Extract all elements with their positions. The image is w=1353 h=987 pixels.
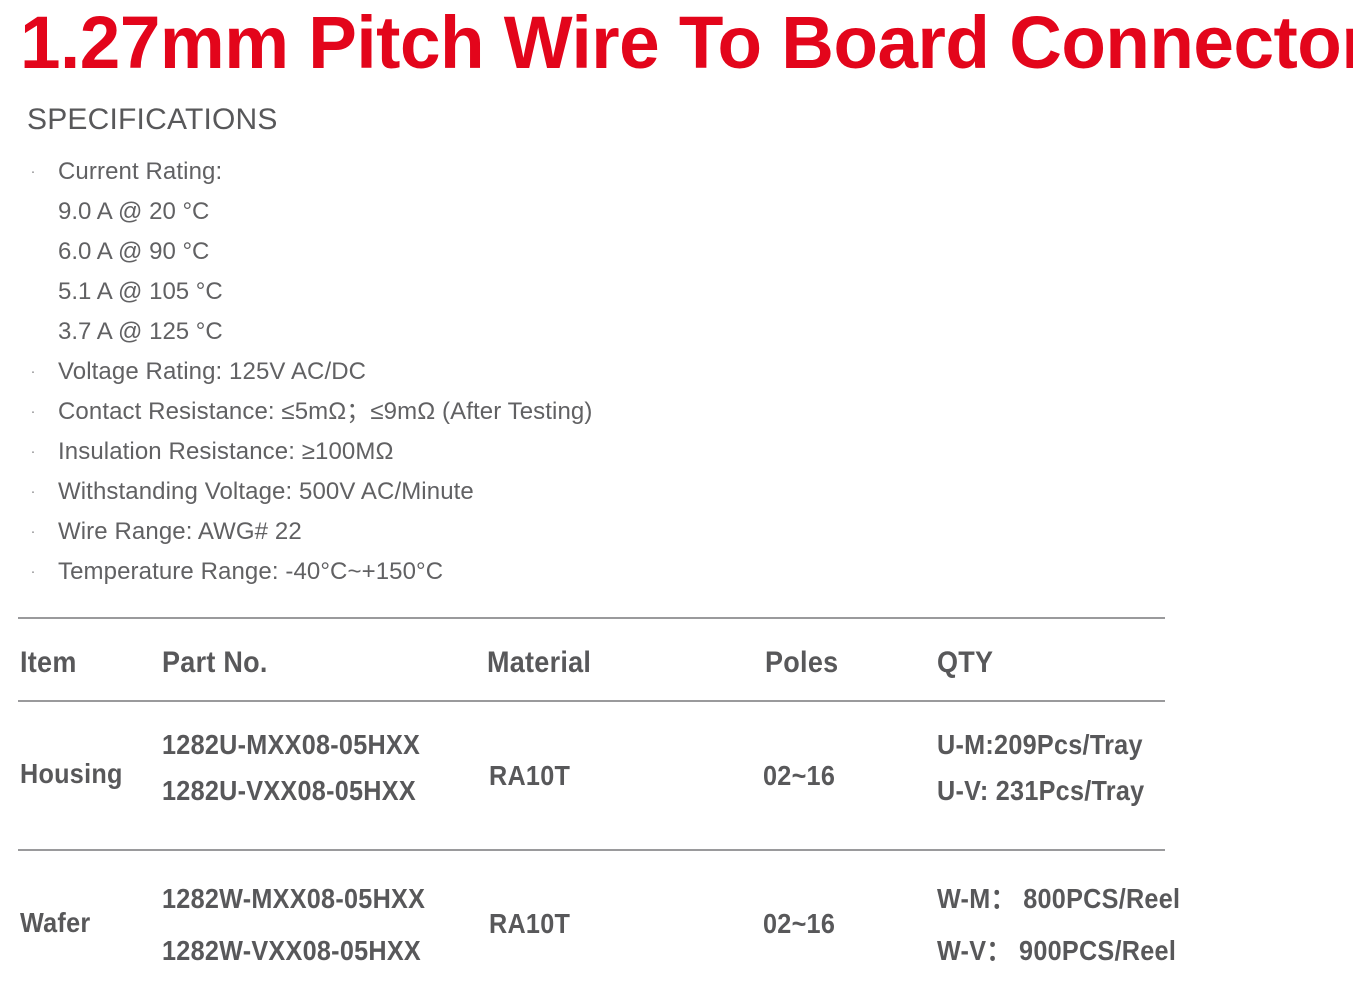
- cell-qty-line-2: U-V: 231Pcs/Tray: [937, 775, 1144, 807]
- cell-qty-line-2: W-V： 900PCS/Reel: [937, 935, 1180, 967]
- spec-subline: 5.1 A @ 105 °C: [0, 272, 900, 312]
- spec-item-label: Wire Range: AWG# 22: [58, 512, 302, 552]
- table-header-part-no: Part No.: [162, 646, 268, 680]
- spec-item-withstanding-voltage: · Withstanding Voltage: 500V AC/Minute: [0, 472, 900, 512]
- spec-item-voltage-rating: · Voltage Rating: 125V AC/DC: [0, 352, 900, 392]
- cell-part-no-line-2: 1282W-VXX08-05HXX: [162, 935, 425, 967]
- spec-item-label: Withstanding Voltage: 500V AC/Minute: [58, 472, 474, 512]
- specifications-heading: SPECIFICATIONS: [27, 103, 278, 137]
- table-header-poles: Poles: [765, 646, 838, 680]
- bullet-icon: ·: [27, 512, 39, 552]
- cell-part-no-line-1: 1282W-MXX08-05HXX: [162, 883, 425, 915]
- spec-item-contact-resistance: · Contact Resistance: ≤5mΩ；≤9mΩ (After T…: [0, 392, 900, 432]
- cell-poles: 02~16: [763, 908, 835, 940]
- spec-subline: 3.7 A @ 125 °C: [0, 312, 900, 352]
- table-header-item: Item: [20, 646, 77, 680]
- bullet-icon: ·: [27, 392, 39, 432]
- bullet-icon: ·: [27, 472, 39, 512]
- table-rule-header: [18, 700, 1165, 702]
- spec-item-temperature-range: · Temperature Range: -40°C~+150°C: [0, 552, 900, 592]
- cell-part-no-line-1: 1282U-MXX08-05HXX: [162, 729, 420, 761]
- spec-subline: 9.0 A @ 20 °C: [0, 192, 900, 232]
- cell-qty: W-M： 800PCS/Reel W-V： 900PCS/Reel: [937, 883, 1180, 967]
- specifications-list: · Current Rating: 9.0 A @ 20 °C 6.0 A @ …: [0, 152, 900, 592]
- table-row: Housing: [20, 758, 123, 790]
- spec-subline-text: 3.7 A @ 125 °C: [58, 312, 223, 352]
- datasheet-page: 1.27mm Pitch Wire To Board Connectors SP…: [0, 0, 1353, 987]
- cell-poles: 02~16: [763, 760, 835, 792]
- cell-material: RA10T: [489, 760, 570, 792]
- bullet-icon: ·: [27, 352, 39, 392]
- spec-item-label: Temperature Range: -40°C~+150°C: [58, 552, 443, 592]
- spec-subline: 6.0 A @ 90 °C: [0, 232, 900, 272]
- spec-item-label: Current Rating:: [58, 152, 222, 192]
- bullet-icon: ·: [27, 432, 39, 472]
- cell-part-no: 1282W-MXX08-05HXX 1282W-VXX08-05HXX: [162, 883, 425, 967]
- bullet-icon: ·: [27, 152, 39, 192]
- spec-subline-text: 9.0 A @ 20 °C: [58, 192, 209, 232]
- cell-qty: U-M:209Pcs/Tray U-V: 231Pcs/Tray: [937, 729, 1144, 807]
- table-rule-top: [18, 617, 1165, 619]
- spec-item-label: Insulation Resistance: ≥100MΩ: [58, 432, 394, 472]
- bullet-icon: ·: [27, 552, 39, 592]
- spec-item-current-rating: · Current Rating:: [0, 152, 900, 192]
- cell-qty-line-1: U-M:209Pcs/Tray: [937, 729, 1144, 761]
- cell-part-no: 1282U-MXX08-05HXX 1282U-VXX08-05HXX: [162, 729, 420, 807]
- spec-item-label: Contact Resistance: ≤5mΩ；≤9mΩ (After Tes…: [58, 392, 592, 432]
- cell-part-no-line-2: 1282U-VXX08-05HXX: [162, 775, 420, 807]
- spec-subline-text: 5.1 A @ 105 °C: [58, 272, 223, 312]
- cell-material: RA10T: [489, 908, 570, 940]
- spec-item-wire-range: · Wire Range: AWG# 22: [0, 512, 900, 552]
- table-row: Wafer: [20, 907, 90, 939]
- cell-item: Wafer: [20, 907, 90, 938]
- page-title: 1.27mm Pitch Wire To Board Connectors: [20, 2, 1330, 84]
- table-header-qty: QTY: [937, 646, 993, 680]
- table-rule-row-1: [18, 849, 1165, 851]
- cell-item: Housing: [20, 758, 123, 789]
- table-header-material: Material: [487, 646, 591, 680]
- cell-qty-line-1: W-M： 800PCS/Reel: [937, 883, 1180, 915]
- spec-item-label: Voltage Rating: 125V AC/DC: [58, 352, 366, 392]
- spec-item-insulation-resistance: · Insulation Resistance: ≥100MΩ: [0, 432, 900, 472]
- spec-subline-text: 6.0 A @ 90 °C: [58, 232, 209, 272]
